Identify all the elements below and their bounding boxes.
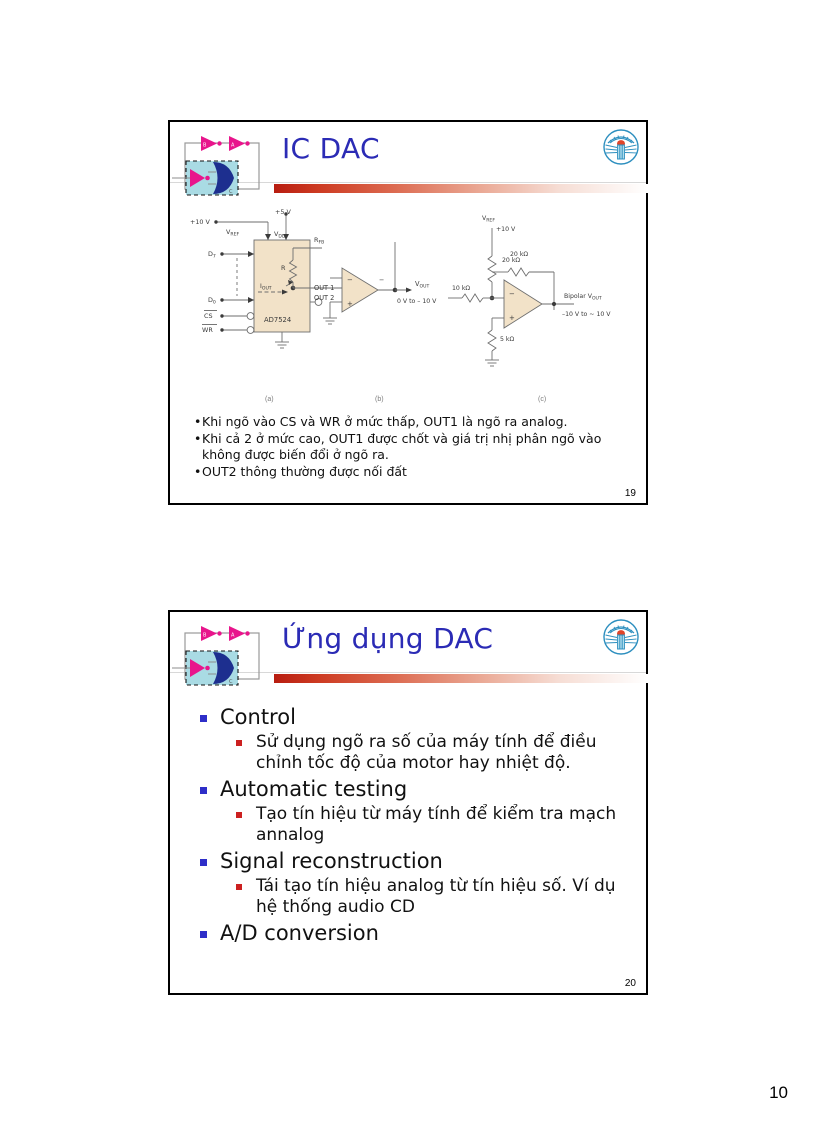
slide2-content-list: Control Sử dụng ngõ ra số của máy tính đ… — [170, 704, 646, 947]
square-bullet-icon — [236, 740, 242, 746]
document-page-number: 10 — [769, 1083, 788, 1103]
label-out2: OUT 2 — [314, 294, 334, 302]
label-d7: D7 — [208, 250, 216, 260]
label-r20k-series: 20 kΩ — [502, 257, 520, 264]
logic-gate-decoration-icon: B A C — [172, 624, 276, 690]
list-item-level1: A/D conversion — [198, 920, 632, 947]
label-bipolar-range: –10 V to ~ 10 V — [562, 311, 611, 318]
svg-text:B: B — [203, 633, 207, 639]
label-vref-a: VREF — [226, 228, 239, 238]
svg-text:−: − — [379, 276, 384, 284]
label-vref-c: VREF — [482, 215, 495, 224]
slide-header: B A C IC DAC — [170, 122, 646, 200]
slide-ic-dac: B A C IC DAC — [168, 120, 648, 505]
title-gradient-bar — [274, 674, 648, 683]
list-item-label: Tái tạo tín hiệu analog từ tín hiệu số. … — [256, 876, 616, 917]
title-gradient-bar — [274, 184, 648, 193]
slide-title: IC DAC — [282, 132, 380, 165]
subcaption-a: (a) — [265, 396, 274, 403]
figure-subcaptions: (a) (b) (c) — [170, 396, 646, 408]
list-item-level2: Sử dụng ngõ ra số của máy tính để điều c… — [232, 732, 632, 774]
label-plus5v: +5 V — [275, 208, 291, 216]
list-item-label: Control — [220, 705, 296, 729]
slide-header: B A C Ứng dụng DAC — [170, 612, 646, 690]
bullet-item: Khi ngõ vào CS và WR ở mức thấp, OUT1 là… — [194, 414, 646, 431]
slide-number: 20 — [625, 978, 636, 989]
list-item-level1: Control — [198, 704, 632, 731]
label-wr: WR — [202, 326, 213, 334]
logic-gate-decoration-icon: B A C — [172, 134, 276, 200]
svg-text:+: + — [347, 300, 353, 308]
subcaption-c: (c) — [538, 396, 546, 403]
label-vout-range-b: 0 V to – 10 V — [397, 298, 437, 305]
label-r5k: 5 kΩ — [500, 336, 514, 343]
subcaption-b: (b) — [375, 396, 384, 403]
svg-text:A: A — [231, 143, 235, 149]
list-item-label: Sử dụng ngõ ra số của máy tính để điều c… — [256, 732, 596, 773]
list-item-level1: Automatic testing — [198, 776, 632, 803]
label-plus10v-c: +10 V — [496, 226, 516, 233]
slide-title: Ứng dụng DAC — [282, 622, 493, 655]
list-item-label: Automatic testing — [220, 777, 407, 801]
list-item-label: Signal reconstruction — [220, 849, 443, 873]
label-r20k-fb: 20 kΩ — [510, 251, 528, 258]
square-bullet-icon — [200, 787, 207, 794]
bullet-item: OUT2 thông thường được nối đất — [194, 464, 646, 481]
university-seal-logo-icon — [602, 128, 640, 166]
label-cs: CS — [204, 312, 213, 320]
list-item-label: Tạo tín hiệu từ máy tính để kiểm tra mạc… — [256, 804, 616, 845]
slide1-bullet-list: Khi ngõ vào CS và WR ở mức thấp, OUT1 là… — [194, 414, 646, 480]
label-d0: D0 — [208, 296, 216, 306]
bullet-item: Khi cả 2 ở mức cao, OUT1 được chốt và gi… — [194, 431, 646, 464]
label-chip-ad7524: AD7524 — [264, 316, 291, 324]
label-r-internal: R — [281, 264, 286, 272]
svg-text:B: B — [203, 143, 207, 149]
label-out1: OUT 1 — [314, 284, 334, 292]
svg-text:A: A — [231, 633, 235, 639]
square-bullet-icon — [200, 859, 207, 866]
list-item-level2: Tái tạo tín hiệu analog từ tín hiệu số. … — [232, 876, 632, 918]
svg-text:−: − — [347, 276, 353, 284]
label-vout-b: VOUT — [415, 280, 429, 290]
document-page: B A C IC DAC — [0, 0, 816, 1123]
university-seal-logo-icon — [602, 618, 640, 656]
list-item-level2: Tạo tín hiệu từ máy tính để kiểm tra mạc… — [232, 804, 632, 846]
square-bullet-icon — [200, 931, 207, 938]
ic-dac-circuit-figure: +10 V VREF +5 V VDD RFB D7 D0 CS WR AD75… — [170, 206, 646, 396]
label-bipolar-vout: Bipolar VOUT — [564, 293, 602, 302]
svg-text:C: C — [229, 189, 233, 195]
slide-ung-dung-dac: B A C Ứng dụng DAC — [168, 610, 648, 995]
svg-text:C: C — [229, 679, 233, 685]
square-bullet-icon — [200, 715, 207, 722]
svg-text:−: − — [509, 290, 515, 298]
label-r10k: 10 kΩ — [452, 285, 470, 292]
list-item-label: A/D conversion — [220, 921, 379, 945]
square-bullet-icon — [236, 812, 242, 818]
label-plus10v-a: +10 V — [190, 218, 211, 226]
slide-number: 19 — [625, 488, 636, 499]
square-bullet-icon — [236, 884, 242, 890]
svg-text:+: + — [509, 314, 515, 322]
label-rfb: RFB — [314, 236, 324, 246]
list-item-level1: Signal reconstruction — [198, 848, 632, 875]
label-vdd: VDD — [274, 230, 286, 240]
